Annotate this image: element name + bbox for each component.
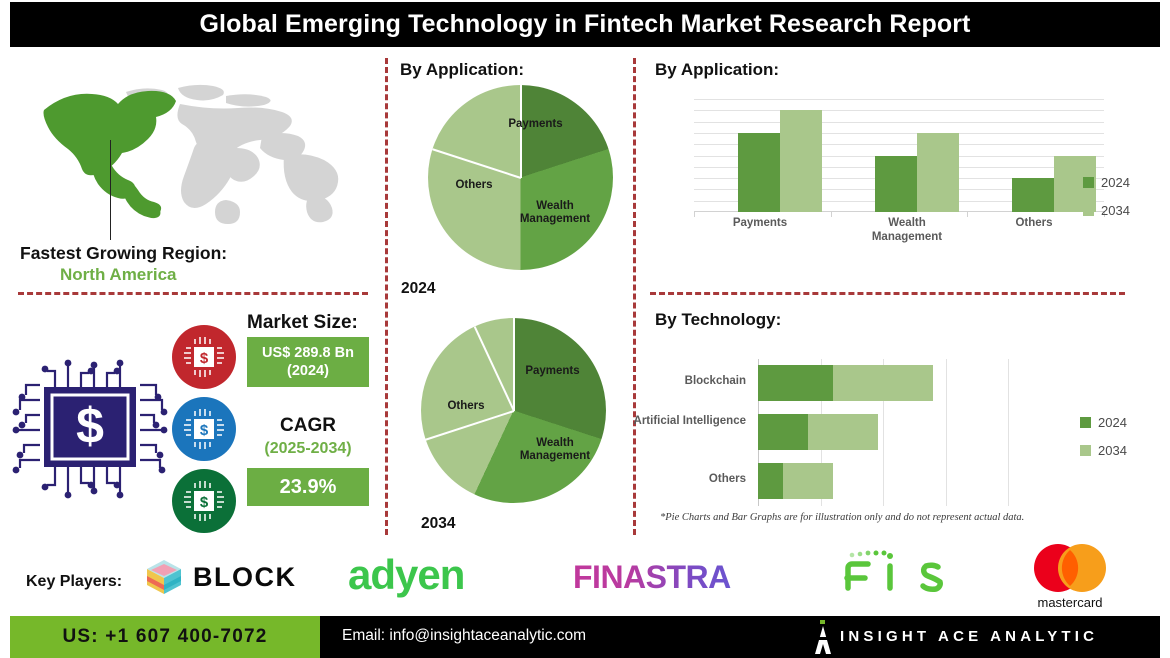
pie-2024-label-others: Others (440, 179, 508, 192)
vbar-wealth-2024 (875, 156, 917, 213)
hbar-category-others: Others (606, 473, 746, 487)
key-players-label: Key Players: (26, 573, 122, 591)
infographic-page: Global Emerging Technology in Fintech Ma… (0, 0, 1170, 658)
mastercard-logo-icon (1014, 542, 1126, 594)
vbar-payments-2024 (738, 133, 780, 212)
pies-section-title: By Application: (400, 60, 524, 80)
svg-text:$: $ (76, 398, 104, 454)
vbar-category-payments: Payments (722, 217, 798, 231)
legend-item-2034-tech: 2034 (1080, 443, 1127, 458)
footer-brand: INSIGHT ACE ANALYTIC (840, 628, 1098, 645)
svg-text:$: $ (200, 422, 209, 439)
hbar-section-title: By Technology: (655, 310, 781, 330)
logo-fis (838, 548, 948, 596)
hbar-blockchain-2034 (833, 365, 933, 401)
hbar-row-ai (758, 414, 1008, 450)
divider-horizontal-left (18, 292, 368, 295)
vbar-section-title: By Application: (655, 60, 779, 80)
legend-item-2034: 2034 (1083, 203, 1130, 218)
hbar-others-2034 (783, 463, 833, 499)
map-pointer-line (110, 140, 111, 240)
footer-phone: US: +1 607 400-7072 (62, 626, 267, 648)
hbar-blockchain-2024 (758, 365, 833, 401)
vbar-others-2024 (1012, 178, 1054, 212)
legend-swatch-2034-tech (1080, 445, 1091, 456)
pie-2024-label-payments: Payments (498, 118, 573, 131)
pie-2034-year: 2034 (421, 515, 455, 533)
chip-dollar-coin-green: $ (172, 469, 236, 533)
legend-swatch-2034 (1083, 205, 1094, 216)
logo-adyen: adyen (348, 551, 464, 599)
hbar-legend: 2024 2034 (1080, 415, 1127, 471)
page-title: Global Emerging Technology in Fintech Ma… (200, 10, 971, 39)
legend-label-2024: 2024 (1101, 175, 1130, 190)
chip-dollar-coin-red: $ (172, 325, 236, 389)
mastercard-logo-text: mastercard (1020, 595, 1120, 610)
logo-finastra: FINASTRA (573, 559, 731, 596)
legend-item-2024-tech: 2024 (1080, 415, 1127, 430)
svg-text:$: $ (200, 494, 209, 511)
fastest-growing-region-label: Fastest Growing Region: (20, 243, 227, 264)
logo-mastercard (1014, 542, 1126, 594)
footer-bar: Email: info@insightaceanalytic.com INSIG… (320, 616, 1160, 658)
vbar-category-wealth: Wealth Management (852, 217, 962, 245)
cagr-value: 23.9% (280, 476, 337, 499)
world-map (30, 70, 360, 240)
hbar-ai-2024 (758, 414, 808, 450)
divider-vertical-right (633, 58, 636, 535)
chip-dollar-coin-blue: $ (172, 397, 236, 461)
cagr-years: (2025-2034) (247, 440, 369, 458)
pie-chart-2024 (428, 85, 613, 270)
pie-2034-label-payments: Payments (515, 365, 590, 378)
legend-item-2024: 2024 (1083, 175, 1130, 190)
market-size-label: Market Size: (247, 312, 358, 334)
horizontal-bar-chart: Blockchain Artificial Intelligence Other… (758, 359, 1008, 506)
pie-2034-label-wealth: Wealth Management (504, 437, 606, 463)
fis-logo-icon (838, 548, 948, 596)
legend-swatch-2024-tech (1080, 417, 1091, 428)
market-size-year: (2024) (287, 362, 329, 380)
adyen-logo-text: adyen (348, 551, 464, 599)
vbar-category-others: Others (996, 217, 1072, 231)
footer-email: Email: info@insightaceanalytic.com (342, 627, 586, 645)
report-header: Global Emerging Technology in Fintech Ma… (10, 2, 1160, 47)
market-size-value-box: US$ 289.8 Bn (2024) (247, 337, 369, 387)
vbar-legend: 2024 2034 (1083, 175, 1130, 231)
vbar-payments-2034 (780, 110, 822, 212)
market-size-value: US$ 289.8 Bn (262, 344, 354, 362)
cagr-value-box: 23.9% (247, 468, 369, 506)
hbar-category-ai: Artificial Intelligence (606, 415, 746, 429)
legend-label-2034: 2034 (1101, 203, 1130, 218)
block-logo-icon (143, 556, 185, 598)
cagr-label: CAGR (247, 415, 369, 437)
finastra-logo-text: FINASTRA (573, 559, 731, 596)
hbar-ai-2034 (808, 414, 878, 450)
logo-block: BLOCK (143, 556, 297, 598)
hbar-row-blockchain (758, 365, 1008, 401)
vertical-bar-chart: Payments Wealth Management Others (694, 99, 1104, 212)
divider-vertical-left (385, 58, 388, 535)
footer-phone-bar: US: +1 607 400-7072 (10, 616, 320, 658)
pie-2024-year: 2024 (401, 280, 435, 298)
fastest-growing-region-value: North America (60, 265, 177, 285)
divider-horizontal-right (650, 292, 1125, 295)
legend-label-2034-tech: 2034 (1098, 443, 1127, 458)
hbar-others-2024 (758, 463, 783, 499)
legend-label-2024-tech: 2024 (1098, 415, 1127, 430)
charts-footnote: *Pie Charts and Bar Graphs are for illus… (660, 512, 1024, 523)
hbar-row-others (758, 463, 1008, 499)
vbar-wealth-2034 (917, 133, 959, 212)
circuit-chip-dollar-icon: $ (10, 355, 170, 505)
pie-2024-label-wealth: Wealth Management (505, 200, 605, 226)
pie-2034-label-others: Others (432, 400, 500, 413)
insight-ace-a-mark-icon (812, 620, 834, 654)
hbar-category-blockchain: Blockchain (606, 375, 746, 389)
block-logo-text: BLOCK (193, 562, 297, 593)
legend-swatch-2024 (1083, 177, 1094, 188)
svg-text:$: $ (200, 350, 209, 367)
